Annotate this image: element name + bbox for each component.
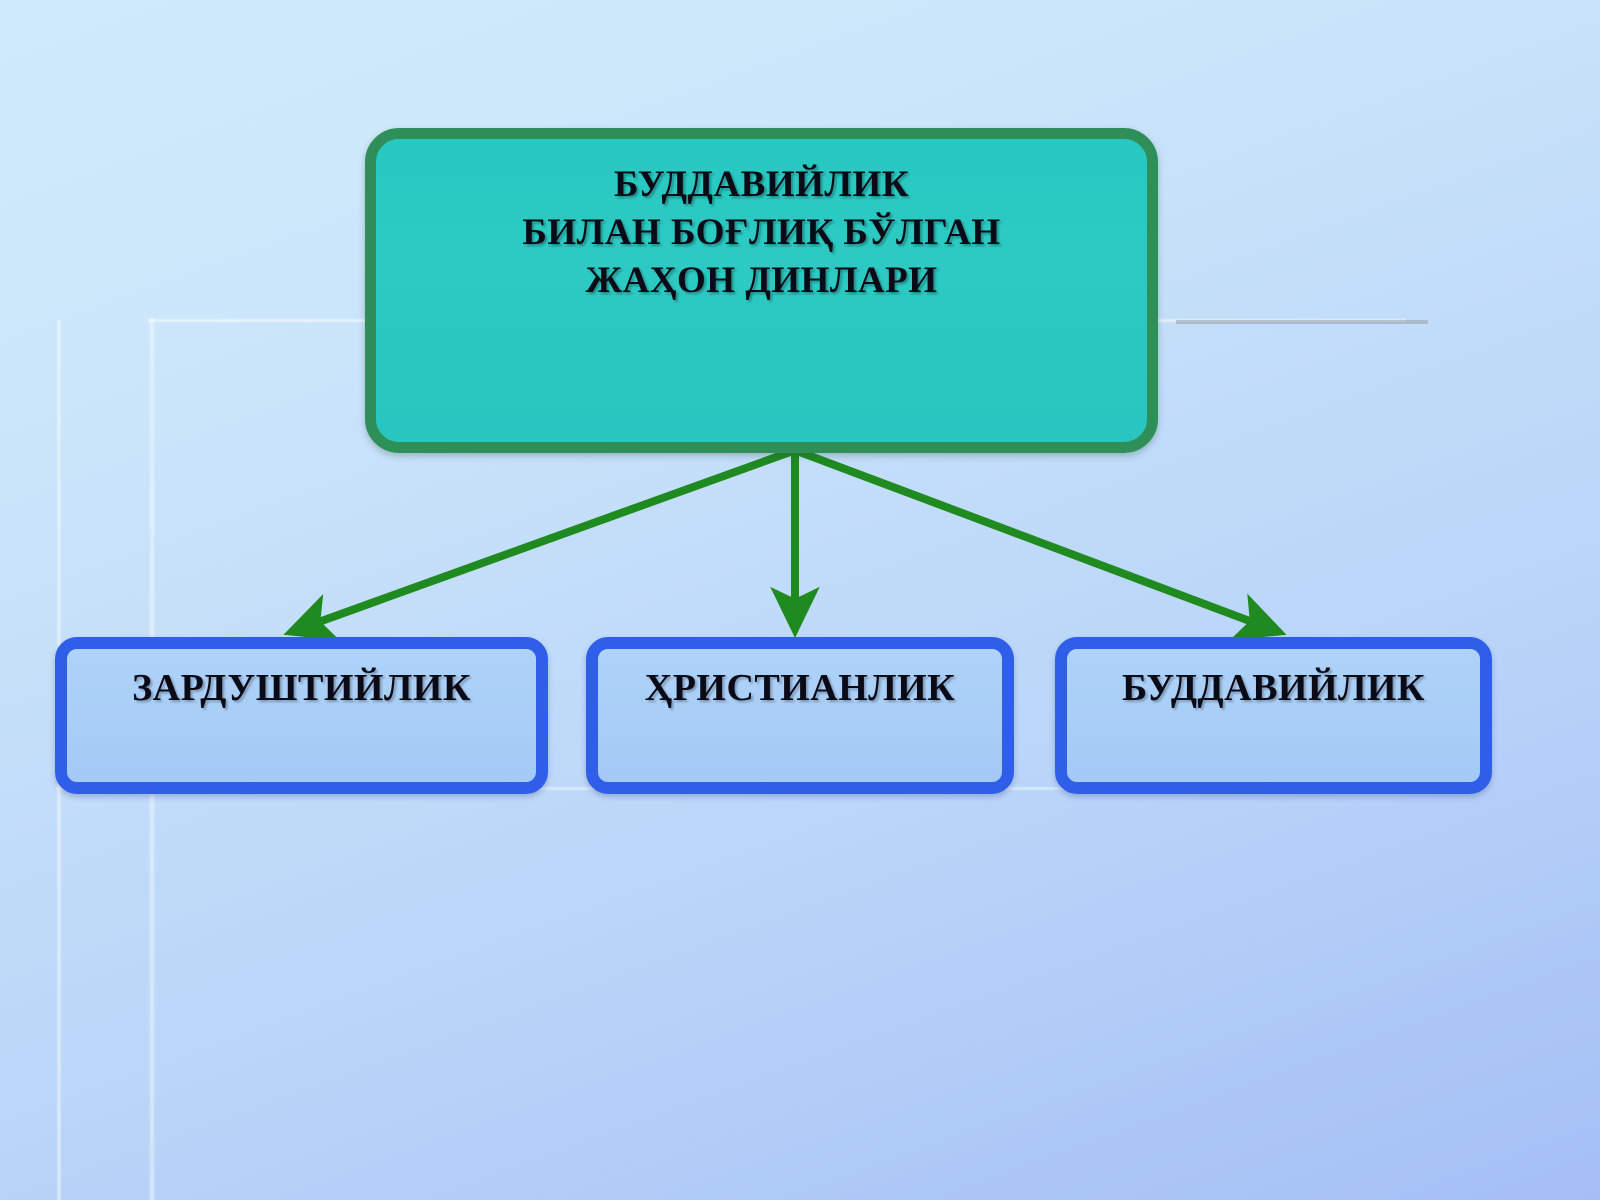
- connector-arrow-left: [291, 451, 793, 632]
- leaf-node-buddhism[interactable]: БУДДАВИЙЛИК: [1055, 637, 1492, 794]
- background-hairline-artifact: [1176, 320, 1428, 324]
- connector-arrow-right: [797, 451, 1279, 632]
- root-node-title: БУДДАВИЙЛИК БИЛАН БОҒЛИҚ БЎЛГАН ЖАҲОН ДИ…: [376, 161, 1147, 305]
- root-node-world-religions[interactable]: БУДДАВИЙЛИК БИЛАН БОҒЛИҚ БЎЛГАН ЖАҲОН ДИ…: [365, 128, 1158, 453]
- leaf-node-zoroastrianism[interactable]: ЗАРДУШТИЙЛИК: [55, 637, 548, 794]
- leaf-node-label: ЗАРДУШТИЙЛИК: [67, 665, 536, 711]
- leaf-node-christianity[interactable]: ҲРИСТИАНЛИК: [586, 637, 1014, 794]
- slide-canvas: БУДДАВИЙЛИК БИЛАН БОҒЛИҚ БЎЛГАН ЖАҲОН ДИ…: [0, 0, 1600, 1200]
- leaf-node-label: БУДДАВИЙЛИК: [1067, 665, 1480, 711]
- leaf-node-label: ҲРИСТИАНЛИК: [598, 665, 1002, 711]
